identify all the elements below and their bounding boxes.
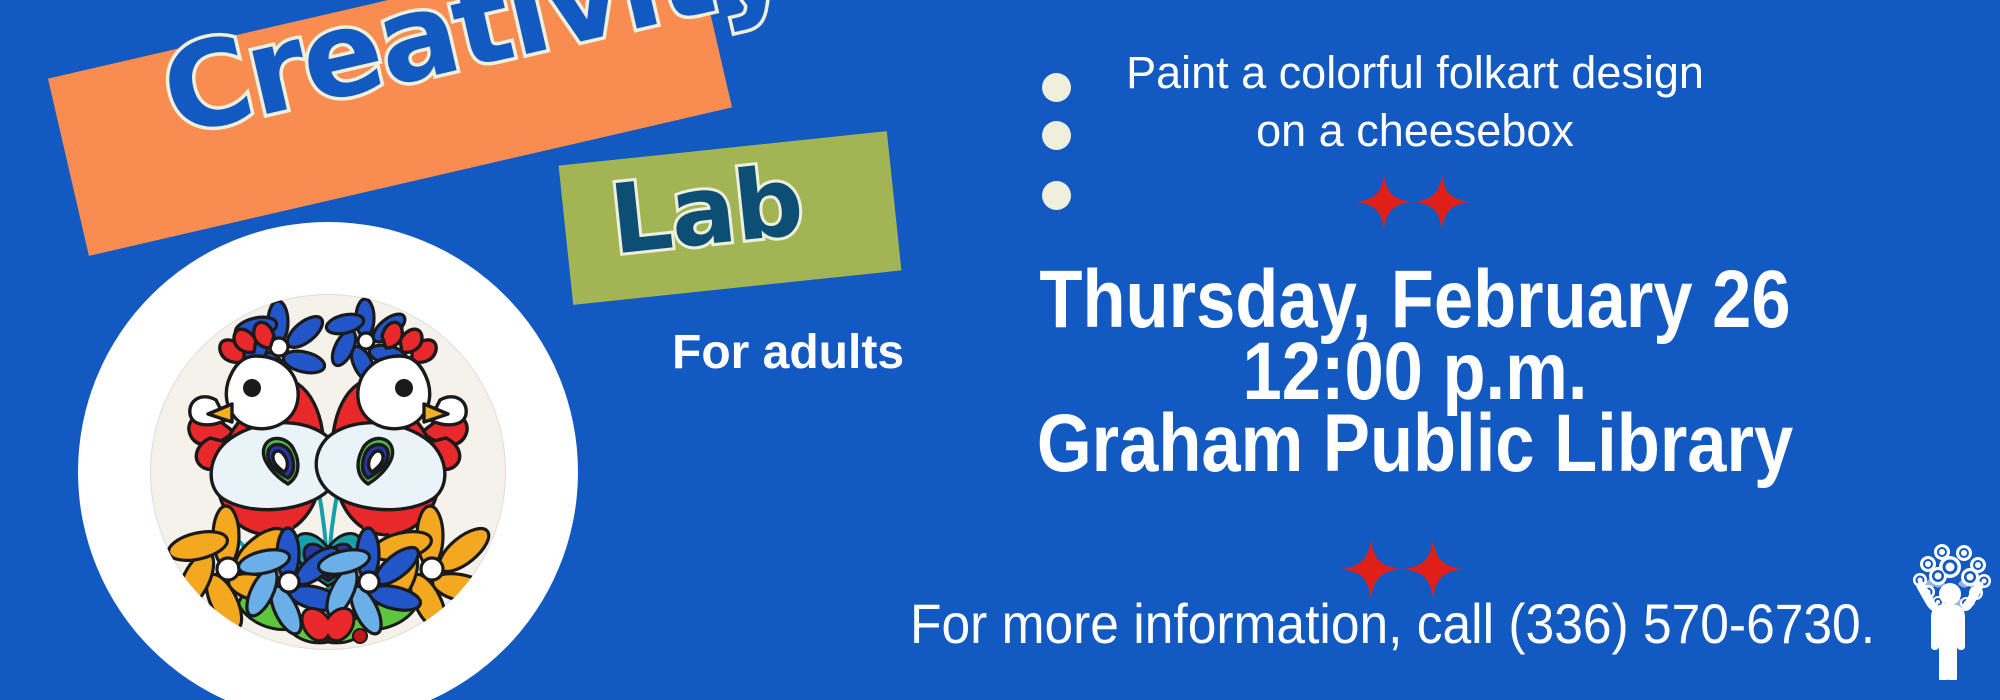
- sparkle-icon: [1413, 173, 1471, 231]
- sparkle-icon: [1340, 538, 1402, 600]
- folkart-illustration: [148, 292, 508, 652]
- sparkle-divider-bottom: [1340, 538, 1464, 600]
- library-logo: [1908, 540, 1992, 680]
- event-venue: Graham Public Library: [912, 397, 1918, 491]
- promotional-banner: Creativity Lab For adults Paint a colorf…: [0, 0, 2000, 700]
- sparkle-icon: [1355, 173, 1413, 231]
- contact-information: For more information, call (336) 570-673…: [875, 591, 1910, 656]
- sparkle-icon: [1402, 538, 1464, 600]
- title-word-lab: Lab: [605, 145, 807, 276]
- person-figure-icon: [1916, 581, 1983, 680]
- sparkle-divider-top: [1355, 173, 1471, 231]
- tagline-line-1: Paint a colorful folkart design: [830, 47, 2000, 99]
- tagline-line-2: on a cheesebox: [830, 105, 2000, 157]
